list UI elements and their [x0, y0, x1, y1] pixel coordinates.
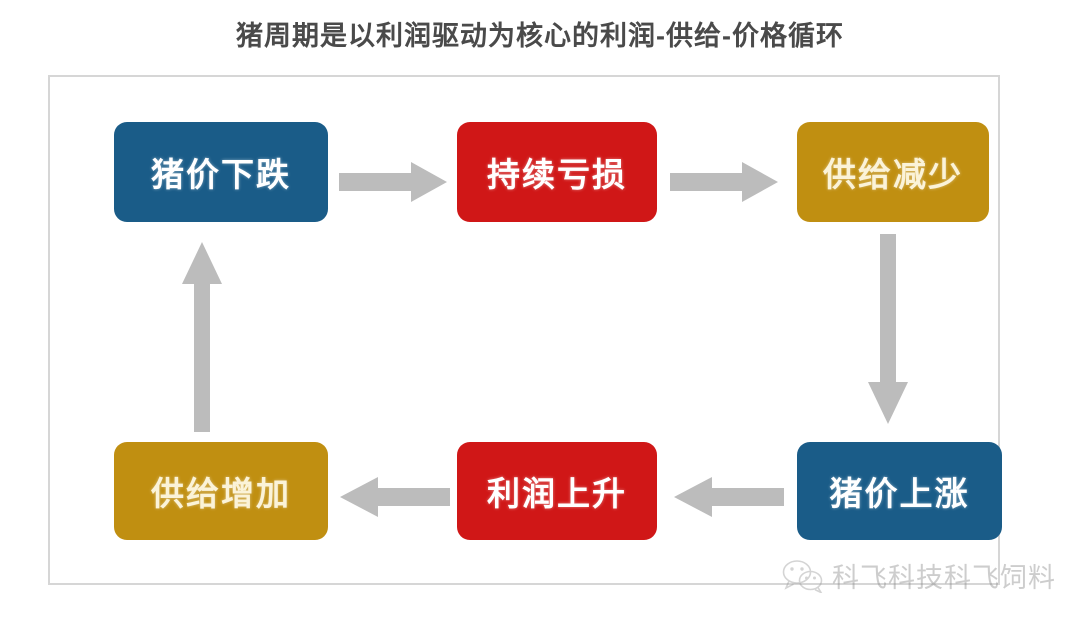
wechat-icon: [782, 559, 824, 593]
page-title: 猪周期是以利润驱动为核心的利润-供给-价格循环: [0, 14, 1080, 53]
node-supply-down-label: 供给减少: [823, 148, 963, 196]
node-profit-up-label: 利润上升: [487, 467, 627, 515]
node-price-down-label: 猪价下跌: [151, 148, 291, 196]
arrow-supply-down-to-price-up: [868, 234, 908, 424]
arrow-supply-up-to-price-down: [182, 242, 222, 432]
arrow-profit-up-to-supply-up: [340, 477, 450, 517]
node-supply-up-label: 供给增加: [151, 467, 291, 515]
node-price-down[interactable]: 猪价下跌: [114, 122, 328, 222]
node-price-up[interactable]: 猪价上涨: [797, 442, 1002, 540]
arrow-price-down-to-loss: [339, 162, 447, 202]
node-supply-up[interactable]: 供给增加: [114, 442, 328, 540]
node-loss-label: 持续亏损: [487, 148, 627, 196]
node-price-up-label: 猪价上涨: [830, 467, 970, 515]
arrow-price-up-to-profit-up: [674, 477, 784, 517]
node-profit-up[interactable]: 利润上升: [457, 442, 657, 540]
arrow-loss-to-supply-down: [670, 162, 778, 202]
node-loss[interactable]: 持续亏损: [457, 122, 657, 222]
node-supply-down[interactable]: 供给减少: [797, 122, 989, 222]
watermark: 科飞科技科飞饲料: [782, 556, 1056, 595]
diagram-frame: 猪价下跌 持续亏损 供给减少 猪价上涨 利润上升 供给增加: [48, 75, 1000, 585]
watermark-label: 科飞科技科飞饲料: [832, 556, 1056, 595]
